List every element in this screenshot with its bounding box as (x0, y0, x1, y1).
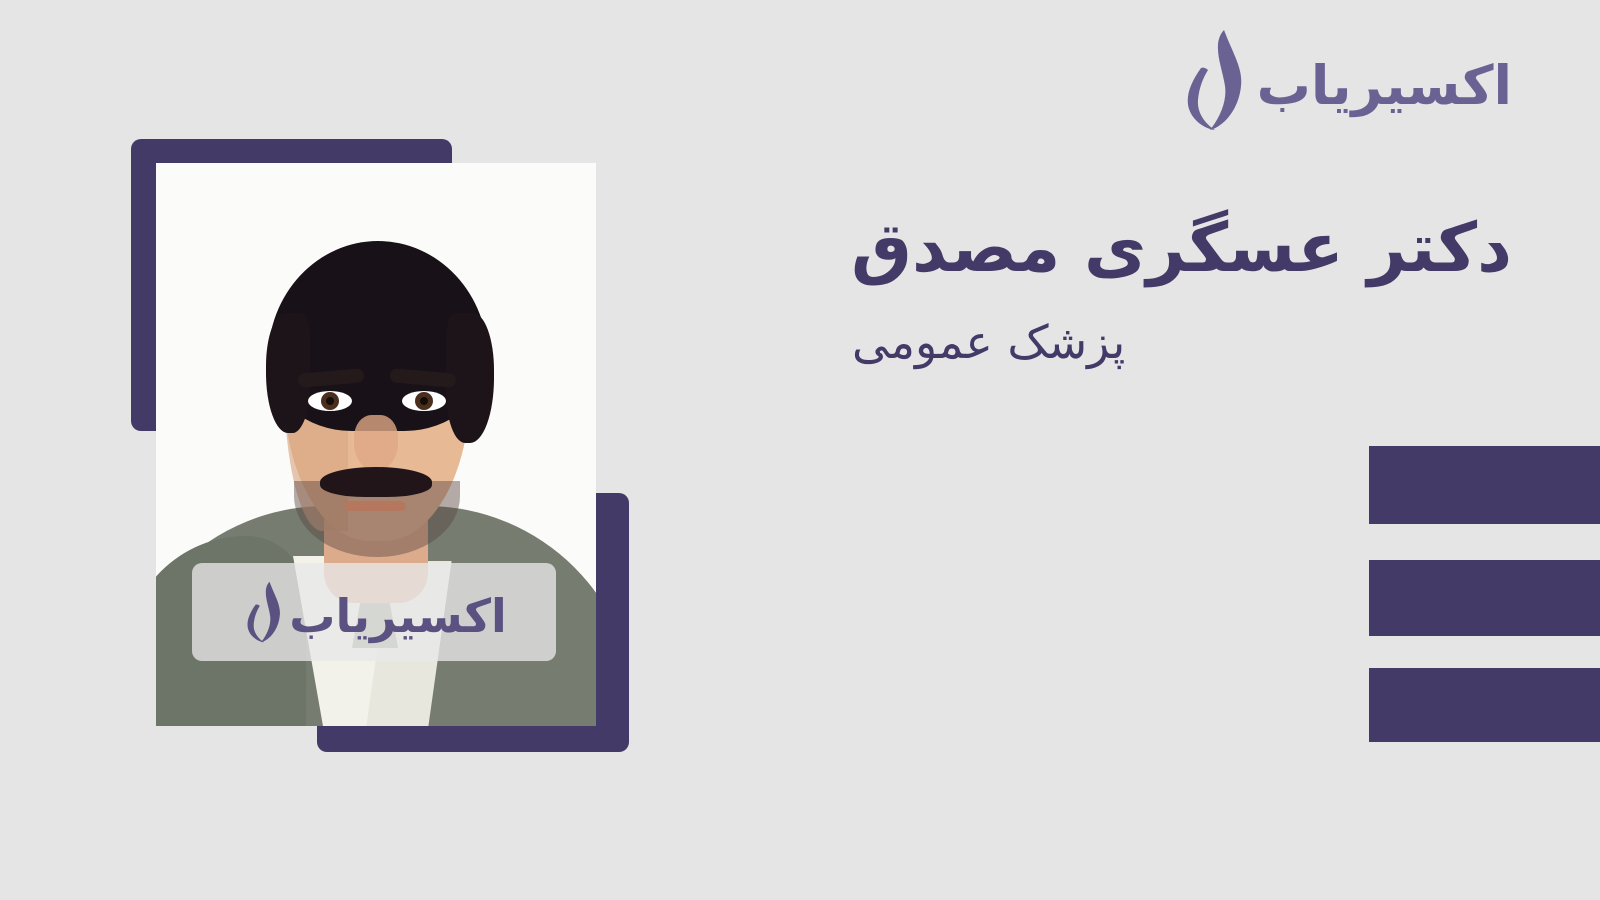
decorative-bar-1 (1369, 446, 1600, 524)
decorative-bar-2 (1369, 560, 1600, 636)
profile-card-canvas: اکسیریاب دکتر عسگری مصدق پزشک عمومی (0, 0, 1600, 900)
portrait-nose (354, 415, 398, 471)
doctor-name: دکتر عسگری مصدق (852, 206, 1512, 291)
portrait-iris-left (321, 392, 339, 410)
photo-watermark: اکسیریاب (192, 563, 556, 661)
portrait-iris-right (415, 392, 433, 410)
portrait-eye-left (308, 391, 352, 411)
doctor-specialty: پزشک عمومی (852, 313, 1512, 373)
brand-name: اکسیریاب (1257, 59, 1512, 113)
portrait-eye-right (402, 391, 446, 411)
portrait-mustache (320, 467, 432, 497)
portrait-mouth (344, 501, 406, 511)
flame-drop-icon (1177, 28, 1243, 132)
decorative-bars (1369, 446, 1600, 742)
portrait-composition: اکسیریاب (0, 0, 700, 900)
flame-drop-icon (241, 580, 281, 644)
doctor-photo: اکسیریاب (156, 163, 596, 726)
headline-block: دکتر عسگری مصدق پزشک عمومی (852, 206, 1512, 373)
brand-logo[interactable]: اکسیریاب (1177, 28, 1512, 132)
decorative-bar-3 (1369, 668, 1600, 742)
watermark-brand-name: اکسیریاب (289, 593, 507, 639)
